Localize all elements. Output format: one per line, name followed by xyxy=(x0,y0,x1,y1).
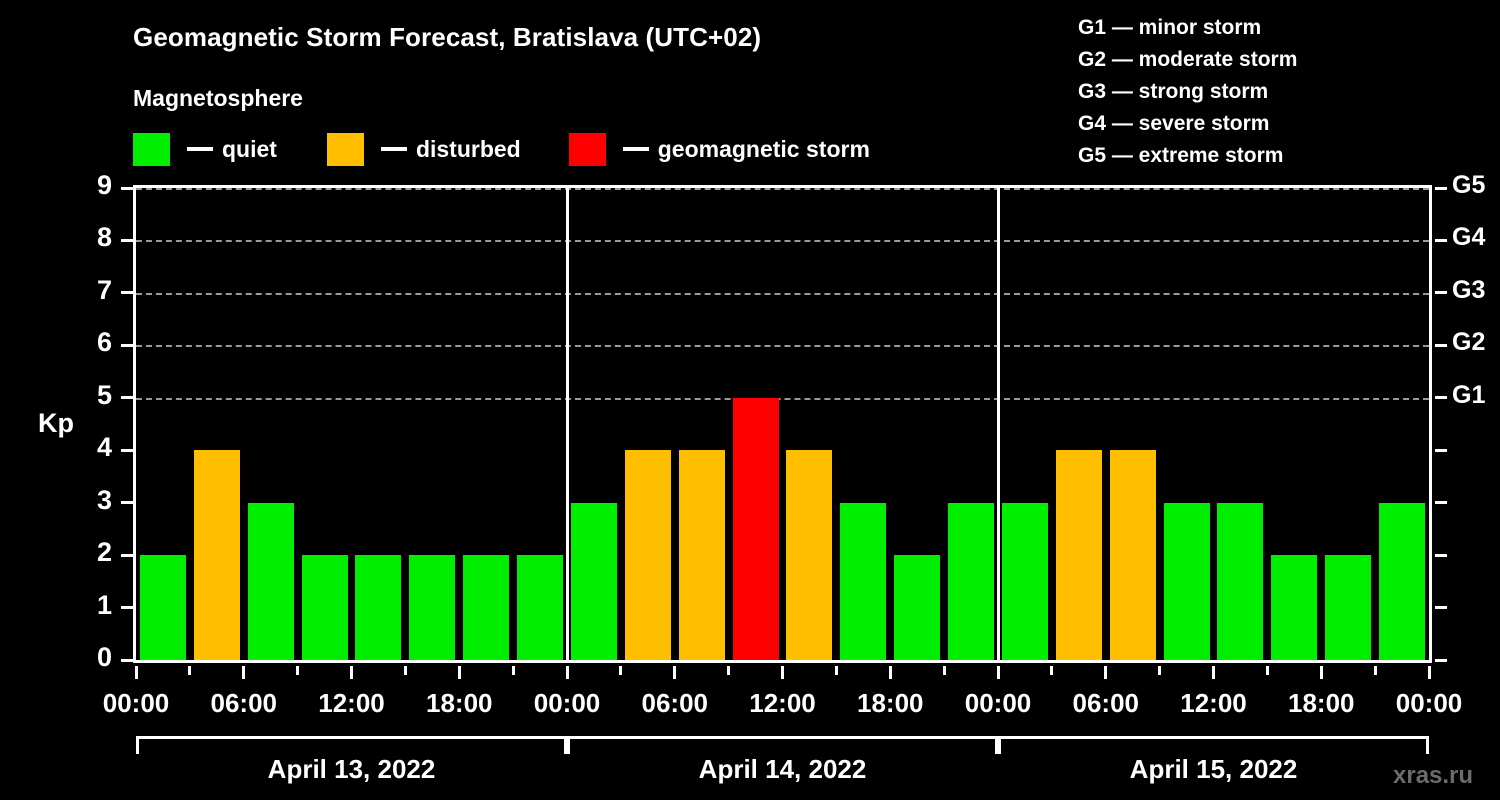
g-scale-legend: G1 — minor stormG2 — moderate stormG3 — … xyxy=(1078,12,1297,172)
bar xyxy=(355,555,401,660)
bar xyxy=(571,503,617,660)
x-tick xyxy=(727,666,730,675)
x-axis-label: 12:00 xyxy=(1180,688,1247,719)
x-tick xyxy=(350,666,353,679)
g-tick-kp-9 xyxy=(1435,187,1447,190)
gridline-kp-5 xyxy=(136,398,1429,400)
y-tick-7 xyxy=(121,291,133,294)
x-axis-label: 00:00 xyxy=(103,688,170,719)
bar xyxy=(194,450,240,660)
x-tick xyxy=(781,666,784,679)
legend-swatch-quiet xyxy=(133,133,170,166)
bar xyxy=(894,555,940,660)
x-tick xyxy=(1104,666,1107,679)
x-tick xyxy=(512,666,515,675)
g-tick-kp-8 xyxy=(1435,239,1447,242)
bar xyxy=(733,398,779,660)
y-axis-label-6: 6 xyxy=(72,327,112,358)
x-tick xyxy=(135,666,138,679)
legend-swatch-storm xyxy=(569,133,606,166)
g-tick-kp-1 xyxy=(1435,606,1447,609)
x-axis-label: 12:00 xyxy=(749,688,816,719)
x-axis-label: 00:00 xyxy=(534,688,601,719)
x-tick xyxy=(619,666,622,675)
day-bracket-cap-left xyxy=(567,736,570,754)
x-tick xyxy=(1266,666,1269,675)
day-divider xyxy=(566,188,569,660)
day-divider xyxy=(997,188,1000,660)
g-tick-kp-6 xyxy=(1435,344,1447,347)
bar xyxy=(1056,450,1102,660)
y-axis-title: Kp xyxy=(38,408,74,439)
x-tick xyxy=(1050,666,1053,675)
gridline-kp-6 xyxy=(136,345,1429,347)
x-tick xyxy=(1374,666,1377,675)
legend-dash-icon xyxy=(381,147,407,151)
bar xyxy=(1379,503,1425,660)
bar xyxy=(679,450,725,660)
legend-label-disturbed: disturbed xyxy=(416,136,521,163)
bar xyxy=(786,450,832,660)
legend-entry-storm: geomagnetic storm xyxy=(569,133,870,166)
x-axis-label: 06:00 xyxy=(642,688,709,719)
g-axis-label-g5: G5 xyxy=(1452,171,1485,200)
y-tick-9 xyxy=(121,187,133,190)
x-axis-label: 18:00 xyxy=(426,688,493,719)
magnetosphere-label: Magnetosphere xyxy=(133,85,303,112)
x-axis-label: 06:00 xyxy=(211,688,278,719)
y-tick-0 xyxy=(121,659,133,662)
legend-dash-icon xyxy=(623,147,649,151)
y-tick-2 xyxy=(121,554,133,557)
y-axis-label-3: 3 xyxy=(72,485,112,516)
x-tick xyxy=(404,666,407,675)
g-legend-row-g1: G1 — minor storm xyxy=(1078,12,1297,44)
g-tick-kp-7 xyxy=(1435,291,1447,294)
x-tick xyxy=(997,666,1000,679)
y-tick-1 xyxy=(121,606,133,609)
x-axis-label: 18:00 xyxy=(857,688,924,719)
x-axis-label: 18:00 xyxy=(1288,688,1355,719)
g-axis-label-g3: G3 xyxy=(1452,276,1485,305)
x-tick xyxy=(1158,666,1161,675)
x-axis-label: 06:00 xyxy=(1073,688,1140,719)
y-tick-6 xyxy=(121,344,133,347)
bar xyxy=(948,503,994,660)
day-bracket xyxy=(998,736,1429,754)
y-axis-label-4: 4 xyxy=(72,432,112,463)
y-axis-label-1: 1 xyxy=(72,590,112,621)
plot-inner xyxy=(136,188,1429,660)
g-tick-kp-3 xyxy=(1435,501,1447,504)
bar xyxy=(1110,450,1156,660)
day-bracket-line xyxy=(567,736,998,739)
g-axis-label-g1: G1 xyxy=(1452,381,1485,410)
y-axis-label-0: 0 xyxy=(72,642,112,673)
bar xyxy=(463,555,509,660)
day-label: April 13, 2022 xyxy=(268,754,436,785)
legend-label-quiet: quiet xyxy=(222,136,277,163)
x-axis-label: 00:00 xyxy=(1396,688,1463,719)
y-axis-label-8: 8 xyxy=(72,222,112,253)
x-tick xyxy=(566,666,569,679)
legend-dash-icon xyxy=(187,147,213,151)
g-legend-row-g4: G4 — severe storm xyxy=(1078,108,1297,140)
bar xyxy=(1217,503,1263,660)
g-legend-row-g3: G3 — strong storm xyxy=(1078,76,1297,108)
gridline-kp-8 xyxy=(136,240,1429,242)
g-tick-kp-5 xyxy=(1435,396,1447,399)
g-axis-label-g4: G4 xyxy=(1452,223,1485,252)
bar xyxy=(1164,503,1210,660)
gridline-kp-7 xyxy=(136,293,1429,295)
bar xyxy=(517,555,563,660)
y-axis-label-7: 7 xyxy=(72,275,112,306)
day-bracket-cap-left xyxy=(998,736,1001,754)
day-label: April 14, 2022 xyxy=(699,754,867,785)
gridline-kp-9 xyxy=(136,188,1429,190)
watermark: xras.ru xyxy=(1393,762,1473,790)
page-title: Geomagnetic Storm Forecast, Bratislava (… xyxy=(133,22,761,53)
g-legend-row-g2: G2 — moderate storm xyxy=(1078,44,1297,76)
day-bracket-cap-right xyxy=(1426,736,1429,754)
day-bracket-cap-left xyxy=(136,736,139,754)
color-legend: quietdisturbedgeomagnetic storm xyxy=(133,132,870,166)
legend-label-storm: geomagnetic storm xyxy=(658,136,870,163)
day-bracket-line xyxy=(136,736,567,739)
y-tick-8 xyxy=(121,239,133,242)
y-axis-label-2: 2 xyxy=(72,537,112,568)
legend-swatch-disturbed xyxy=(327,133,364,166)
x-tick xyxy=(188,666,191,675)
x-axis-label: 00:00 xyxy=(965,688,1032,719)
legend-entry-quiet: quiet xyxy=(133,133,277,166)
g-tick-kp-2 xyxy=(1435,554,1447,557)
day-bracket xyxy=(136,736,567,754)
g-axis-label-g2: G2 xyxy=(1452,328,1485,357)
day-label: April 15, 2022 xyxy=(1130,754,1298,785)
g-tick-kp-4 xyxy=(1435,449,1447,452)
x-tick xyxy=(458,666,461,679)
x-tick xyxy=(835,666,838,675)
bar xyxy=(1002,503,1048,660)
bar xyxy=(302,555,348,660)
bar xyxy=(840,503,886,660)
x-tick xyxy=(242,666,245,679)
bar xyxy=(1271,555,1317,660)
x-tick xyxy=(943,666,946,675)
x-axis-label: 12:00 xyxy=(318,688,385,719)
g-legend-row-g5: G5 — extreme storm xyxy=(1078,140,1297,172)
y-tick-5 xyxy=(121,396,133,399)
x-tick xyxy=(889,666,892,679)
x-tick xyxy=(673,666,676,679)
x-tick xyxy=(1428,666,1431,679)
y-tick-3 xyxy=(121,501,133,504)
bar xyxy=(625,450,671,660)
y-axis-label-5: 5 xyxy=(72,380,112,411)
x-tick xyxy=(1212,666,1215,679)
y-tick-4 xyxy=(121,449,133,452)
legend-entry-disturbed: disturbed xyxy=(327,133,521,166)
bar xyxy=(140,555,186,660)
plot-area xyxy=(133,185,1432,663)
y-axis-label-9: 9 xyxy=(72,170,112,201)
g-tick-kp-0 xyxy=(1435,659,1447,662)
bar xyxy=(409,555,455,660)
bar xyxy=(1325,555,1371,660)
day-bracket-line xyxy=(998,736,1429,739)
bar xyxy=(248,503,294,660)
x-tick xyxy=(296,666,299,675)
day-bracket xyxy=(567,736,998,754)
x-tick xyxy=(1320,666,1323,679)
